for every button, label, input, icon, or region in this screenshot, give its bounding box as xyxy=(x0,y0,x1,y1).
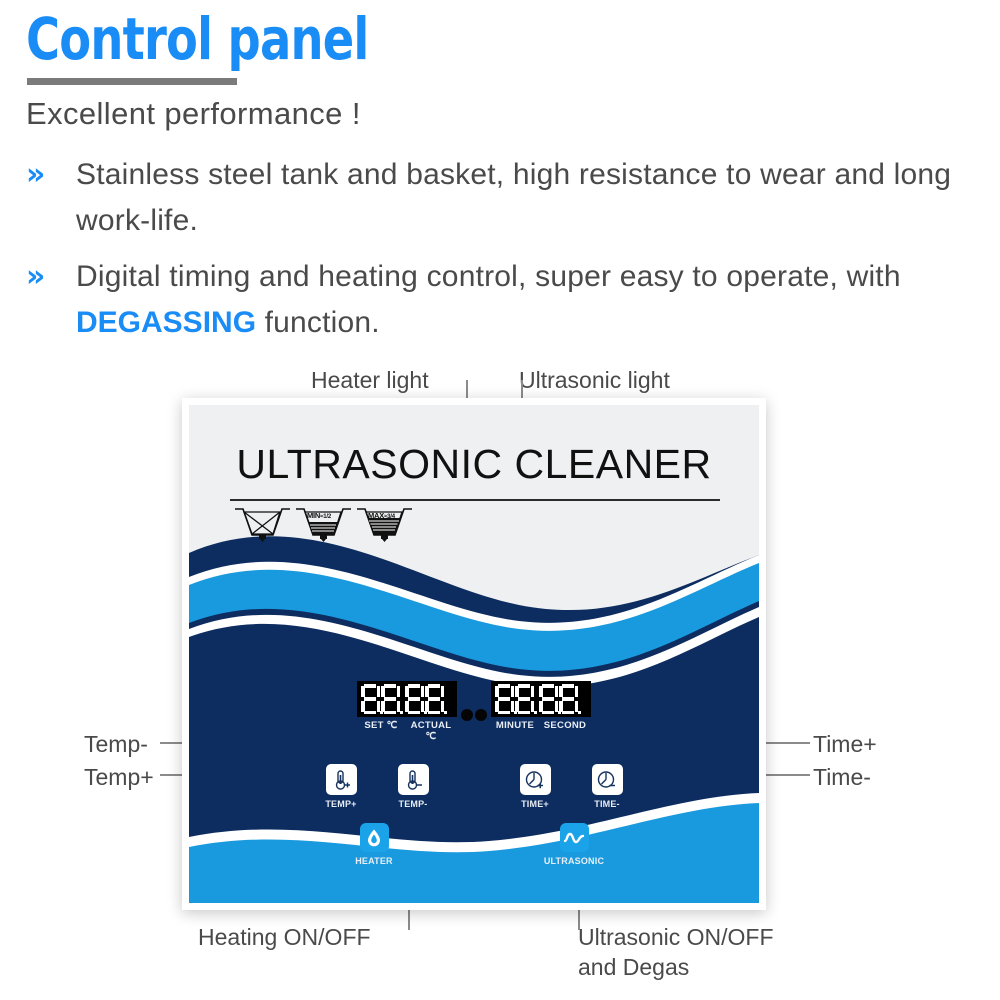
timer-led-digits xyxy=(491,681,591,717)
time-button-group: TIME+ TIME- xyxy=(517,764,625,809)
seven-segment-digit xyxy=(495,684,514,714)
seven-segment-digit xyxy=(539,684,558,714)
callout-time-plus: Time+ xyxy=(813,729,877,759)
subtitle: Excellent performance ! xyxy=(26,95,361,133)
caption-minute: MINUTE xyxy=(491,720,539,731)
panel-title: ULTRASONIC CLEANER xyxy=(189,441,759,488)
seven-segment-digit xyxy=(515,684,534,714)
bullet-emphasis: DEGASSING xyxy=(76,306,256,339)
timer-display-captions: MINUTE SECOND xyxy=(491,720,591,731)
callout-temp-plus: Temp+ xyxy=(84,762,154,792)
bullet-text: Stainless steel tank and basket, high re… xyxy=(76,152,986,244)
seven-segment-digit xyxy=(361,684,380,714)
double-chevron-icon: » xyxy=(26,254,76,292)
callout-temp-minus: Temp- xyxy=(84,729,148,759)
thermometer-minus-icon[interactable] xyxy=(398,764,429,795)
heater-indicator-light xyxy=(461,709,473,721)
ultrasonic-indicator-light xyxy=(475,709,487,721)
time-minus-button[interactable]: TIME- xyxy=(589,764,625,809)
time-plus-label: TIME+ xyxy=(517,799,553,809)
list-item: » Digital timing and heating control, su… xyxy=(26,254,986,346)
temp-minus-button[interactable]: TEMP- xyxy=(395,764,431,809)
sine-wave-icon[interactable] xyxy=(560,823,589,852)
seven-segment-digit xyxy=(381,684,400,714)
caption-set-temp: SET ℃ xyxy=(357,720,405,742)
flame-drop-icon[interactable] xyxy=(360,823,389,852)
callout-ultrasonic-onoff: Ultrasonic ON/OFF and Degas xyxy=(578,922,788,982)
callout-time-minus: Time- xyxy=(813,762,871,792)
clock-plus-icon[interactable] xyxy=(520,764,551,795)
seven-segment-digit xyxy=(405,684,424,714)
caption-actual-temp: ACTUAL ℃ xyxy=(405,720,457,742)
seven-segment-digit xyxy=(559,684,578,714)
mode-button-row: HEATER ULTRASONIC xyxy=(189,823,759,866)
double-chevron-icon: » xyxy=(26,152,76,190)
title-underline-bar xyxy=(27,78,237,85)
bullet-text-part: function. xyxy=(256,306,380,339)
page-title: Control panel xyxy=(26,8,369,70)
time-plus-button[interactable]: TIME+ xyxy=(517,764,553,809)
thermometer-plus-icon[interactable] xyxy=(326,764,357,795)
tank-max-label: MAX≈3/4 xyxy=(368,511,395,520)
adjust-button-row: TEMP+ TEMP- xyxy=(189,764,759,809)
temperature-led-digits xyxy=(357,681,457,717)
water-level-icon-group: MIN≈1/2 MAX≈3/4 xyxy=(233,505,414,543)
heater-label: HEATER xyxy=(339,856,409,866)
temperature-display-captions: SET ℃ ACTUAL ℃ xyxy=(357,720,457,742)
tank-max-level-icon: MAX≈3/4 xyxy=(355,505,414,543)
caption-second: SECOND xyxy=(539,720,591,731)
button-row-spacer xyxy=(431,764,517,809)
ultrasonic-label: ULTRASONIC xyxy=(539,856,609,866)
temp-button-group: TEMP+ TEMP- xyxy=(323,764,431,809)
bullet-text-part: Stainless steel tank and basket, high re… xyxy=(76,158,951,237)
bullet-text: Digital timing and heating control, supe… xyxy=(76,254,986,346)
temp-plus-button[interactable]: TEMP+ xyxy=(323,764,359,809)
tank-min-level-icon: MIN≈1/2 xyxy=(294,505,353,543)
temperature-display: SET ℃ ACTUAL ℃ xyxy=(357,681,457,742)
control-panel-image: ULTRASONIC CLEANER xyxy=(182,398,766,910)
seven-segment-digit xyxy=(425,684,444,714)
callout-heater-light: Heater light xyxy=(311,365,429,395)
time-minus-label: TIME- xyxy=(589,799,625,809)
panel-controls: SET ℃ ACTUAL ℃ xyxy=(189,681,759,866)
feature-bullet-list: » Stainless steel tank and basket, high … xyxy=(26,152,986,356)
tank-empty-icon xyxy=(233,505,292,543)
tank-min-label: MIN≈1/2 xyxy=(307,511,331,520)
timer-display: MINUTE SECOND xyxy=(491,681,591,731)
display-row: SET ℃ ACTUAL ℃ xyxy=(189,681,759,742)
callout-heating-onoff: Heating ON/OFF xyxy=(198,922,371,952)
clock-minus-icon[interactable] xyxy=(592,764,623,795)
callout-ultrasonic-light: Ultrasonic light xyxy=(519,365,670,395)
temp-minus-label: TEMP- xyxy=(395,799,431,809)
ultrasonic-button[interactable]: ULTRASONIC xyxy=(539,823,609,866)
panel-title-underline xyxy=(230,499,720,501)
heater-button[interactable]: HEATER xyxy=(339,823,409,866)
temp-plus-label: TEMP+ xyxy=(323,799,359,809)
bullet-text-part: Digital timing and heating control, supe… xyxy=(76,260,901,293)
list-item: » Stainless steel tank and basket, high … xyxy=(26,152,986,244)
